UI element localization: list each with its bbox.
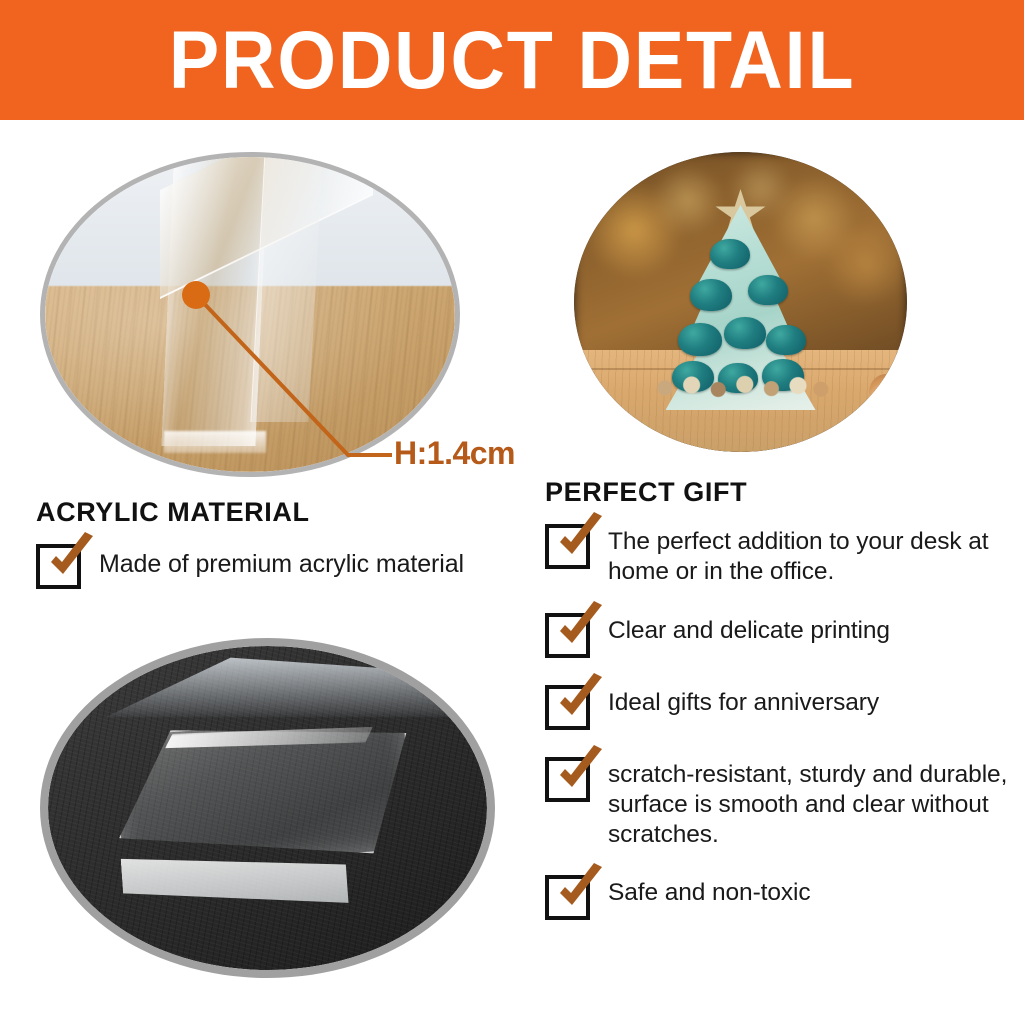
acrylic-block xyxy=(112,714,414,918)
turtle-tree-figurine xyxy=(666,205,816,410)
checkmark-icon xyxy=(552,512,608,568)
turtle-ornament xyxy=(748,275,788,305)
acrylic-block-scene xyxy=(48,646,487,970)
checkbox-checked-icon xyxy=(545,875,590,920)
checkmark-icon xyxy=(552,601,608,657)
turtle-ornament xyxy=(724,317,766,349)
acrylic-base-highlight xyxy=(164,431,267,453)
feature-item: scratch-resistant, sturdy and durable, s… xyxy=(545,755,1010,850)
measurement-point-dot xyxy=(182,281,210,309)
measurement-label: H:1.4cm xyxy=(394,435,515,472)
section-heading-acrylic-material: ACRYLIC MATERIAL xyxy=(36,497,310,528)
checkbox-checked-icon xyxy=(545,757,590,802)
acrylic-edge-scene xyxy=(45,157,455,472)
image-acrylic-block xyxy=(40,638,495,978)
feature-text: The perfect addition to your desk at hom… xyxy=(590,522,1010,587)
feature-list-acrylic-material: Made of premium acrylic material xyxy=(36,542,516,589)
checkbox-checked-icon xyxy=(545,524,590,569)
feature-list-perfect-gift: The perfect addition to your desk at hom… xyxy=(545,522,1010,920)
image-acrylic-edge xyxy=(40,152,460,477)
checkbox-checked-icon xyxy=(545,613,590,658)
checkmark-icon xyxy=(552,745,608,801)
checkmark-icon xyxy=(43,532,99,588)
turtle-ornament xyxy=(678,323,722,356)
checkmark-icon xyxy=(552,863,608,919)
shell-pebble-base xyxy=(646,370,836,400)
page-title: PRODUCT DETAIL xyxy=(169,20,856,102)
checkbox-checked-icon xyxy=(36,544,81,589)
image-turtle-tree xyxy=(574,152,907,452)
feature-text: Safe and non-toxic xyxy=(590,873,811,908)
feature-item: Ideal gifts for anniversary xyxy=(545,683,1010,730)
feature-text: Clear and delicate printing xyxy=(590,611,890,646)
turtle-ornament xyxy=(766,325,806,355)
turtle-ornament xyxy=(690,279,732,311)
checkbox-checked-icon xyxy=(545,685,590,730)
feature-item: Clear and delicate printing xyxy=(545,611,1010,658)
feature-text: Ideal gifts for anniversary xyxy=(590,683,879,718)
wood-room-scene xyxy=(45,157,455,472)
turtle-tree-scene xyxy=(574,152,907,452)
seashell-decoration xyxy=(869,374,903,404)
feature-item: The perfect addition to your desk at hom… xyxy=(545,522,1010,587)
feature-item: Safe and non-toxic xyxy=(545,873,1010,920)
section-heading-perfect-gift: PERFECT GIFT xyxy=(545,477,747,508)
feature-text: Made of premium acrylic material xyxy=(81,542,464,580)
checkmark-icon xyxy=(552,673,608,729)
feature-text: scratch-resistant, sturdy and durable, s… xyxy=(590,755,1010,850)
header-bar: PRODUCT DETAIL xyxy=(0,0,1024,120)
feature-item: Made of premium acrylic material xyxy=(36,542,516,589)
turtle-ornament xyxy=(710,239,750,269)
